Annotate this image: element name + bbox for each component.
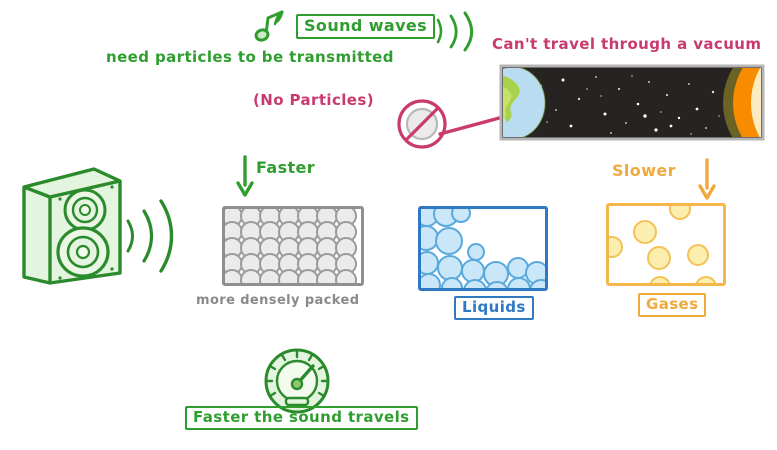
- sound-waves-label: Sound waves: [296, 14, 435, 39]
- slower-label: Slower: [612, 163, 676, 179]
- conclusion-label: Faster the sound travels: [185, 406, 418, 430]
- solids-particle-box: [222, 206, 364, 286]
- loudspeaker-icon: [16, 165, 186, 285]
- conclusion-label-text: Faster the sound travels: [185, 406, 418, 430]
- down-arrow-orange-icon: [698, 158, 716, 200]
- vacuum-label: Can't travel through a vacuum: [492, 37, 761, 52]
- speedometer-gauge-icon: [258, 348, 336, 414]
- gases-caption-text: Gases: [638, 293, 706, 317]
- solids-caption: more densely packed: [196, 294, 359, 307]
- earth-sun-vacuum-image: [501, 66, 763, 139]
- gases-particle-box: [606, 203, 726, 286]
- music-note-icon: [252, 8, 292, 44]
- speaker-wave-arcs-icon: [128, 201, 172, 271]
- liquids-caption: Liquids: [454, 296, 534, 320]
- liquids-caption-text: Liquids: [454, 296, 534, 320]
- sound-wave-arcs-icon: [432, 10, 482, 50]
- diagram-canvas: Sound waves need particles to be transmi…: [0, 0, 777, 450]
- liquids-particle-box: [418, 206, 548, 291]
- down-arrow-green-icon: [236, 155, 254, 197]
- sound-waves-label-text: Sound waves: [296, 14, 435, 39]
- gases-caption: Gases: [638, 293, 706, 317]
- need-particles-label: need particles to be transmitted: [106, 50, 394, 65]
- no-particles-label: (No Particles): [253, 93, 374, 108]
- faster-label: Faster: [256, 160, 315, 176]
